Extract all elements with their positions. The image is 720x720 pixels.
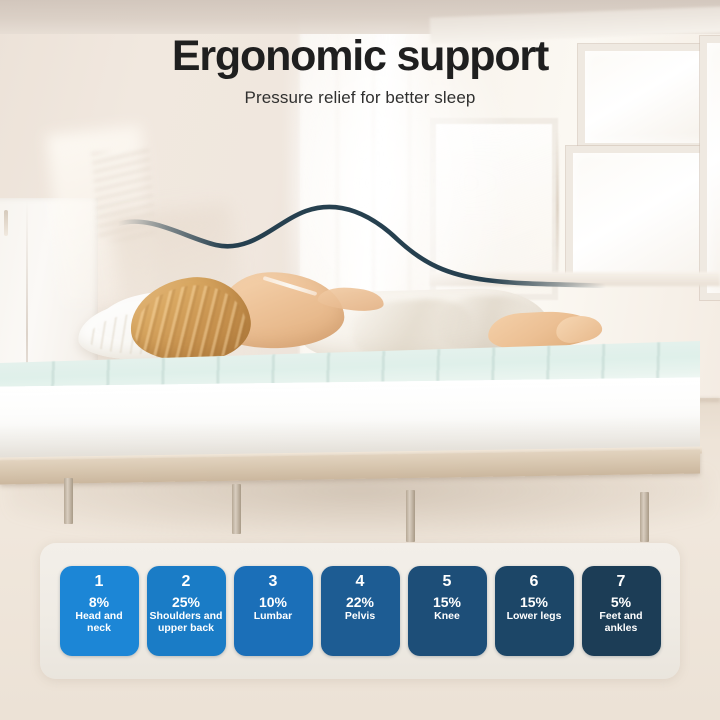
- card-percent: 5%: [611, 594, 631, 610]
- card-label: Lumbar: [251, 611, 296, 623]
- card-percent: 22%: [346, 594, 374, 610]
- card-label: Head and neck: [60, 611, 139, 634]
- pressure-card-2[interactable]: 225%Shoulders and upper back: [147, 566, 226, 656]
- window-lower: [566, 146, 720, 283]
- pressure-point-cards: 18%Head and neck225%Shoulders and upper …: [40, 543, 680, 679]
- card-label: Feet and ankles: [582, 611, 661, 634]
- card-percent: 10%: [259, 594, 287, 610]
- card-number: 6: [529, 573, 538, 591]
- card-label: Pelvis: [342, 611, 378, 623]
- card-label: Lower legs: [504, 611, 565, 623]
- card-percent: 15%: [520, 594, 548, 610]
- pressure-card-5[interactable]: 515%Knee: [408, 566, 487, 656]
- bed-leg: [406, 490, 415, 542]
- pressure-card-3[interactable]: 310%Lumbar: [234, 566, 313, 656]
- wall-seam: [556, 130, 559, 285]
- page-title: Ergonomic support: [0, 32, 720, 81]
- bed-leg: [640, 492, 649, 542]
- card-percent: 25%: [172, 594, 200, 610]
- card-label: Knee: [431, 611, 463, 623]
- wardrobe-handle: [4, 210, 8, 236]
- card-number: 4: [355, 573, 364, 591]
- card-number: 1: [94, 573, 103, 591]
- card-number: 5: [442, 573, 451, 591]
- card-percent: 15%: [433, 594, 461, 610]
- pressure-card-4[interactable]: 422%Pelvis: [321, 566, 400, 656]
- product-infographic: Ergonomic support Pressure relief for be…: [0, 0, 720, 720]
- card-number: 2: [181, 573, 190, 591]
- card-number: 3: [268, 573, 277, 591]
- page-subtitle: Pressure relief for better sleep: [0, 88, 720, 108]
- card-label: Shoulders and upper back: [147, 611, 226, 634]
- pressure-card-6[interactable]: 615%Lower legs: [495, 566, 574, 656]
- card-number: 7: [616, 573, 625, 591]
- pressure-card-1[interactable]: 18%Head and neck: [60, 566, 139, 656]
- bed-leg: [232, 484, 241, 534]
- card-percent: 8%: [89, 594, 109, 610]
- pressure-card-7[interactable]: 75%Feet and ankles: [582, 566, 661, 656]
- bed-leg: [64, 478, 73, 524]
